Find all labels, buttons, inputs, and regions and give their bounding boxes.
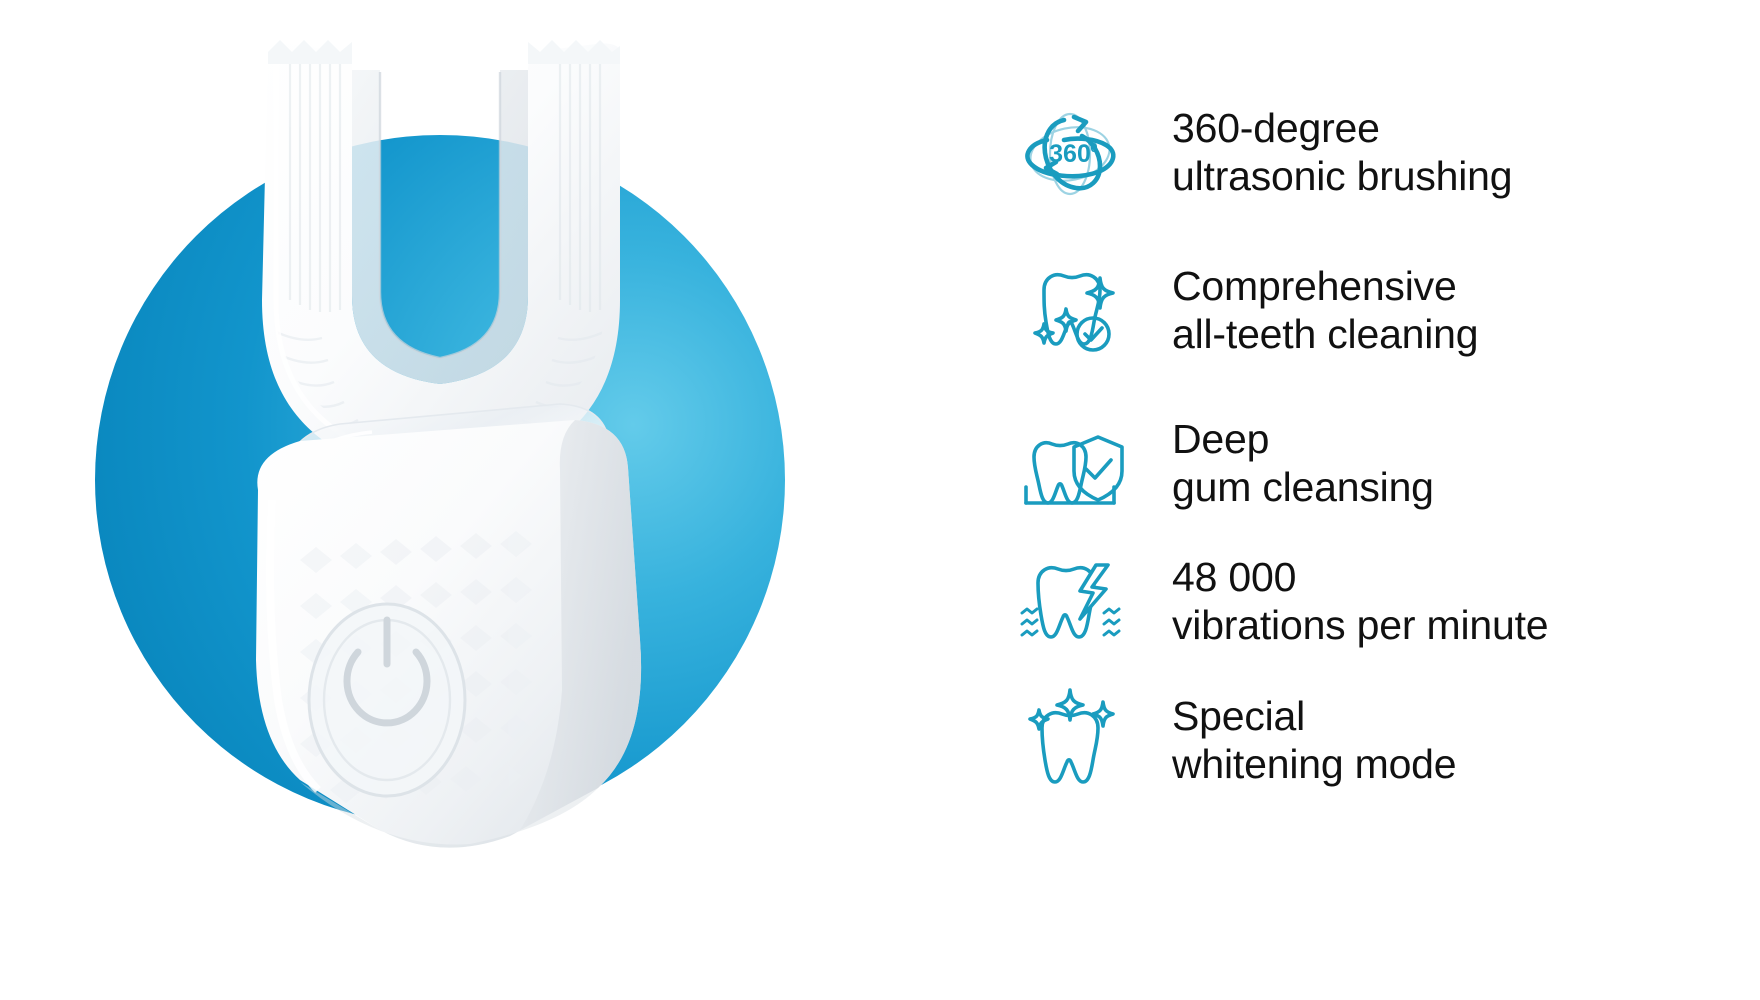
- feature-line-1: Deep: [1172, 415, 1434, 463]
- feature-item-comprehensive-cleaning: Comprehensive all-teeth cleaning: [880, 250, 1760, 370]
- feature-text-360-degree: 360-degree ultrasonic brushing: [1172, 104, 1512, 200]
- sparkling-tooth-check-icon: [1010, 250, 1130, 370]
- feature-item-whitening-mode: Special whitening mode: [880, 680, 1760, 800]
- feature-line-1: 360-degree: [1172, 104, 1512, 152]
- feature-text-comprehensive-cleaning: Comprehensive all-teeth cleaning: [1172, 262, 1478, 358]
- tooth-gum-shield-check-icon: [1010, 403, 1130, 523]
- feature-line-2: ultrasonic brushing: [1172, 152, 1512, 200]
- 360-degree-rotation-icon: 360 0: [1010, 92, 1130, 212]
- product-hero: [0, 0, 880, 1000]
- feature-text-gum-cleansing: Deep gum cleansing: [1172, 415, 1434, 511]
- feature-line-1: 48 000: [1172, 553, 1548, 601]
- feature-item-gum-cleansing: Deep gum cleansing: [880, 403, 1760, 523]
- feature-line-2: gum cleansing: [1172, 463, 1434, 511]
- product-illustration: [0, 0, 880, 1000]
- feature-line-2: all-teeth cleaning: [1172, 310, 1478, 358]
- whitening-sparkle-tooth-icon: [1010, 680, 1130, 800]
- feature-line-2: whitening mode: [1172, 740, 1456, 788]
- feature-line-1: Comprehensive: [1172, 262, 1478, 310]
- infographic-page: 360 0 360-degree ultrasonic brushing: [0, 0, 1760, 1000]
- feature-item-vibrations: 48 000 vibrations per minute: [880, 541, 1760, 661]
- feature-item-360-degree: 360 0 360-degree ultrasonic brushing: [880, 92, 1760, 212]
- feature-text-whitening-mode: Special whitening mode: [1172, 692, 1456, 788]
- toothbrush-handle-body: [256, 420, 641, 848]
- tooth-lightning-vibration-icon: [1010, 541, 1130, 661]
- feature-line-2: vibrations per minute: [1172, 601, 1548, 649]
- feature-line-1: Special: [1172, 692, 1456, 740]
- feature-text-vibrations: 48 000 vibrations per minute: [1172, 553, 1548, 649]
- 360-icon-degree-suffix: 0: [1090, 140, 1097, 155]
- feature-list: 360 0 360-degree ultrasonic brushing: [880, 0, 1760, 1000]
- power-button: [309, 604, 465, 796]
- 360-icon-label: 360: [1049, 140, 1091, 168]
